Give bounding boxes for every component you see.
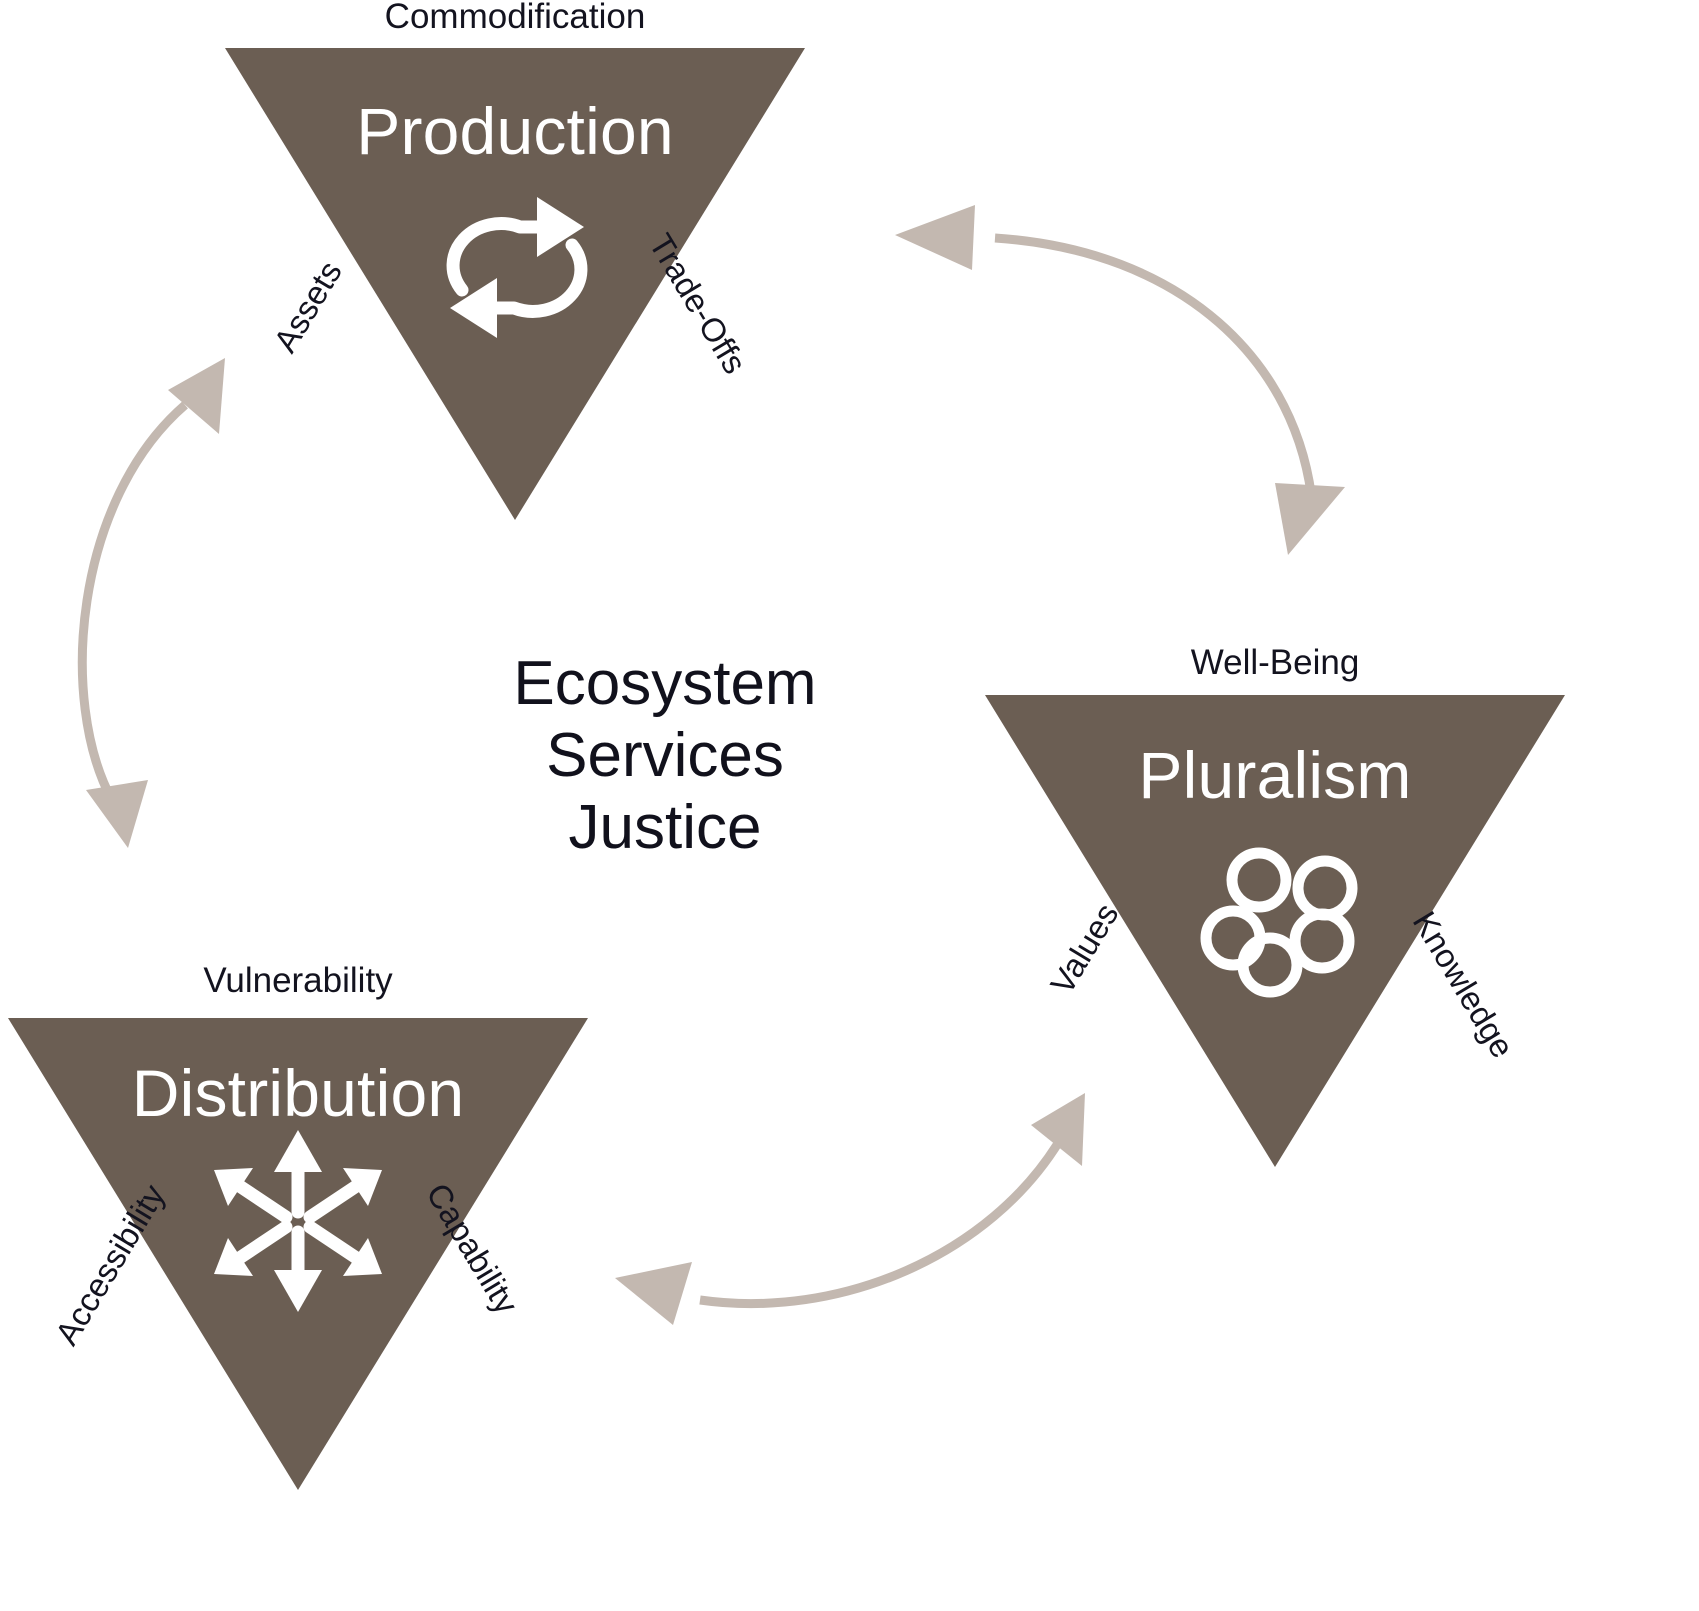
page-title: Ecosystem Services Justice <box>430 648 900 864</box>
node-pluralism-top-label: Well-Being <box>1025 645 1525 680</box>
node-distribution-top-label: Vulnerability <box>48 963 548 998</box>
connector-production-pluralism <box>895 205 1345 555</box>
center-title-line-1: Ecosystem <box>430 648 900 720</box>
figure-canvas: Ecosystem Services Justice Commodificati… <box>0 0 1699 1611</box>
node-distribution-title: Distribution <box>48 1060 548 1126</box>
node-production-title: Production <box>265 98 765 164</box>
center-title-line-3: Justice <box>430 792 900 864</box>
node-production-top-label: Commodification <box>265 0 765 34</box>
connector-distribution-production <box>82 358 225 848</box>
connector-pluralism-distribution <box>615 1093 1085 1325</box>
center-title-line-2: Services <box>430 720 900 792</box>
node-pluralism-title: Pluralism <box>1025 742 1525 808</box>
